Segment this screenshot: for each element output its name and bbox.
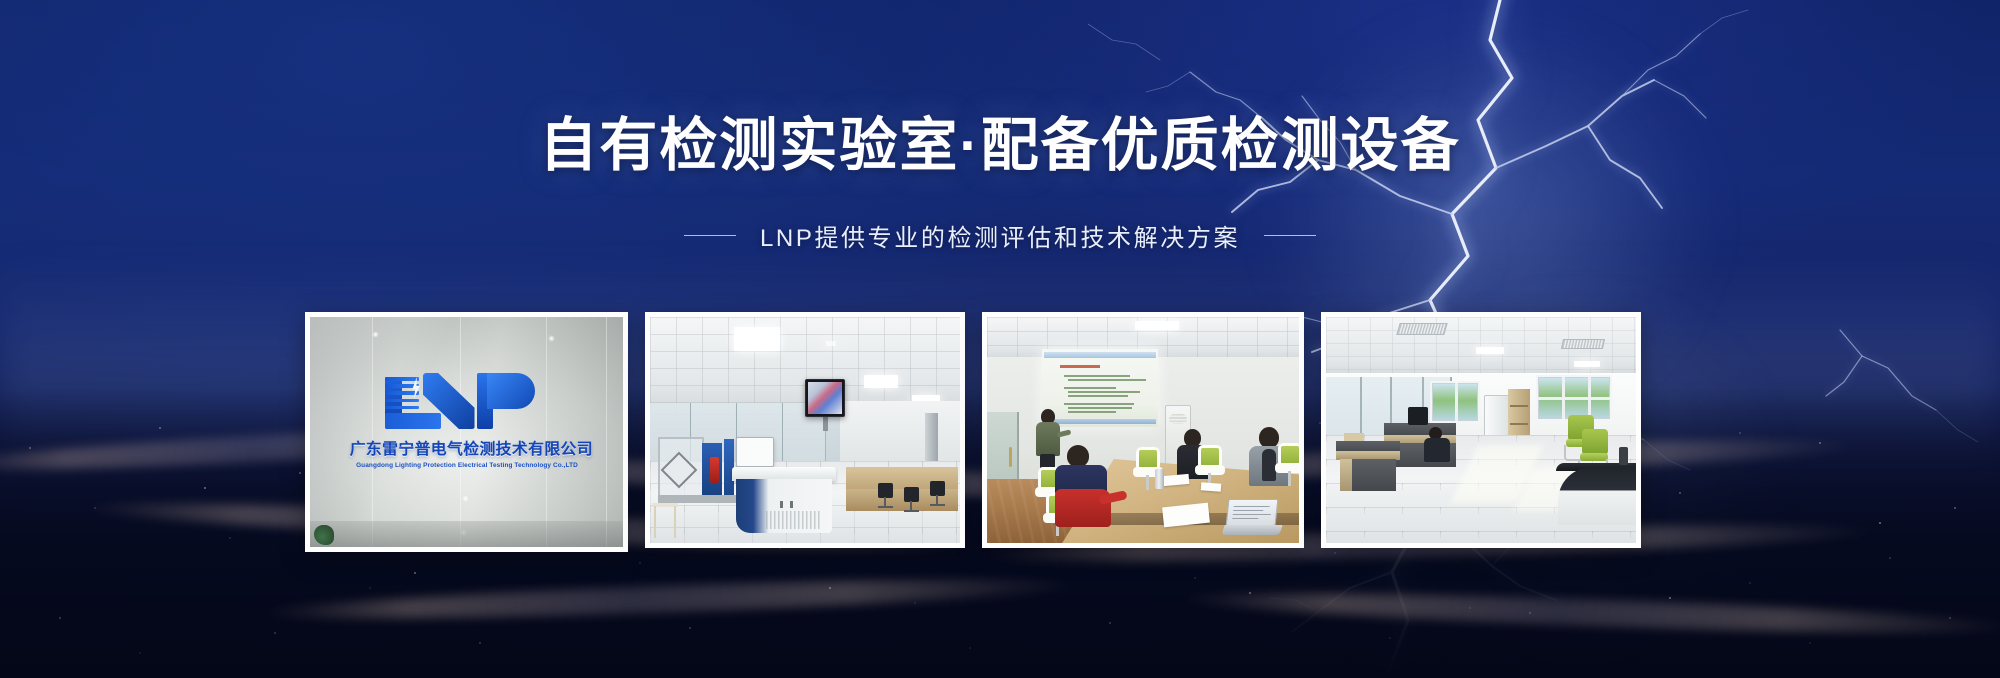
window <box>1430 381 1480 423</box>
lnp-logo-icon <box>377 369 557 431</box>
photo-image <box>650 317 960 543</box>
control-console <box>732 467 836 535</box>
rule-right-icon <box>1264 235 1316 237</box>
attendee-person <box>1055 445 1111 525</box>
photo-image: 广东雷宁普电气检测技术有限公司 Guangdong Lighting Prote… <box>310 317 623 547</box>
page-title: 自有检测实验室·配备优质检测设备 <box>0 112 2000 180</box>
meeting-chair <box>1275 443 1299 487</box>
company-name-en: Guangdong Lighting Protection Electrical… <box>347 462 586 469</box>
lab-stool <box>652 503 678 539</box>
rule-left-icon <box>684 235 736 237</box>
counter-device-icon <box>1619 447 1628 465</box>
lnp-logo-block: 广东雷宁普电气检测技术有限公司 Guangdong Lighting Prote… <box>352 369 582 469</box>
office-chair <box>930 481 946 507</box>
page-subtitle: LNP提供专业的检测评估和技术解决方案 <box>760 218 1240 253</box>
company-name-cn: 广东雷宁普电气检测技术有限公司 <box>349 437 584 459</box>
wall-monitor-icon <box>805 379 845 417</box>
office-worker-person <box>1424 427 1450 461</box>
office-chair <box>904 487 920 513</box>
subtitle-row: LNP提供专业的检测评估和技术解决方案 <box>0 218 2000 253</box>
console-monitor-icon <box>736 437 774 467</box>
photo-image <box>987 317 1299 543</box>
testing-laboratory-photo[interactable] <box>645 312 965 548</box>
photo-image <box>1326 317 1636 543</box>
company-signage-photo[interactable]: 广东雷宁普电气检测技术有限公司 Guangdong Lighting Prote… <box>305 312 628 552</box>
office-chair <box>878 483 894 509</box>
laptop-icon <box>1223 499 1281 537</box>
notepad <box>1201 482 1222 491</box>
photo-gallery: 广东雷宁普电气检测技术有限公司 Guangdong Lighting Prote… <box>305 312 1641 552</box>
office-area-photo[interactable] <box>1321 312 1641 548</box>
thermos-cup <box>1155 469 1164 489</box>
meeting-room-photo[interactable] <box>982 312 1304 548</box>
door-handle-icon <box>1009 447 1012 467</box>
reception-counter <box>1558 467 1636 525</box>
hero-banner: 自有检测实验室·配备优质检测设备 LNP提供专业的检测评估和技术解决方案 <box>0 0 2000 678</box>
desktop-monitor-icon <box>1408 407 1428 425</box>
